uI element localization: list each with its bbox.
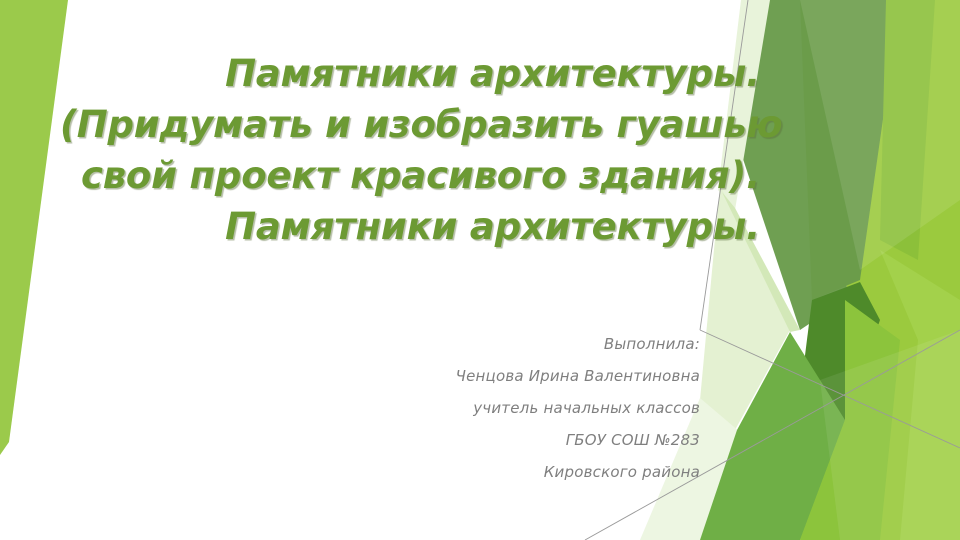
slide-subtitle: Выполнила: Ченцова Ирина Валентиновна уч…	[280, 328, 700, 488]
subtitle-line-2: Ченцова Ирина Валентиновна	[280, 360, 700, 392]
slide-title: Памятники архитектуры. (Придумать и изоб…	[60, 48, 760, 252]
subtitle-line-3: учитель начальных классов	[280, 392, 700, 424]
slide-content: Памятники архитектуры. (Придумать и изоб…	[0, 0, 960, 540]
title-line-1: Памятники архитектуры.	[60, 48, 760, 99]
title-line-2: (Придумать и изобразить гуашью	[60, 99, 760, 150]
presentation-slide: Памятники архитектуры. (Придумать и изоб…	[0, 0, 960, 540]
title-line-4: Памятники архитектуры.	[60, 201, 760, 252]
subtitle-line-1: Выполнила:	[280, 328, 700, 360]
subtitle-line-4: ГБОУ СОШ №283	[280, 424, 700, 456]
subtitle-line-5: Кировского района	[280, 456, 700, 488]
title-line-3: свой проект красивого здания).	[60, 150, 760, 201]
